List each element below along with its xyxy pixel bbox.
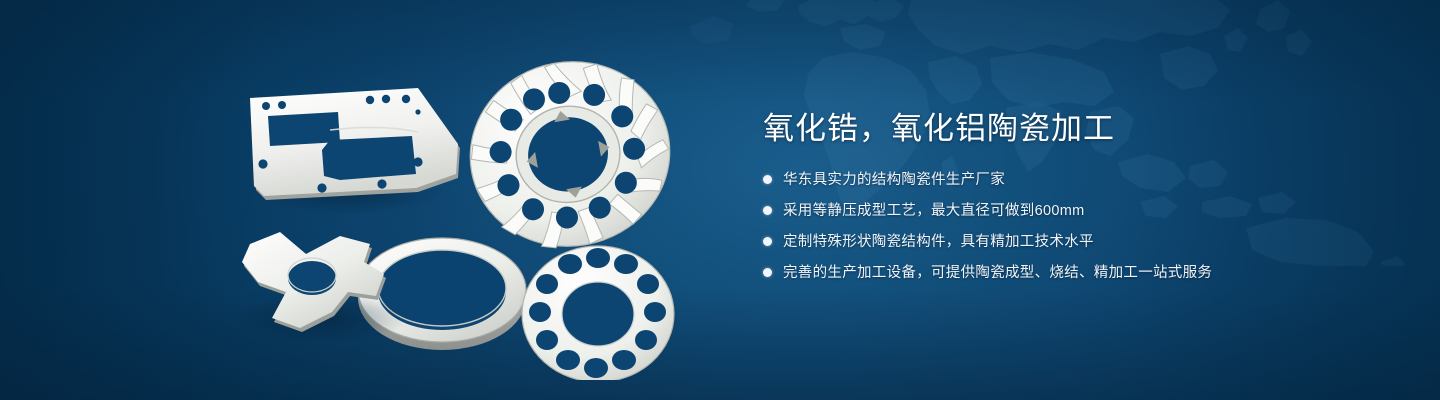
feature-text: 采用等静压成型工艺，最大直径可做到600mm [783, 201, 1084, 221]
bullet-dot-icon [763, 206, 772, 215]
bullet-dot-icon [763, 237, 772, 246]
list-item: 华东具实力的结构陶瓷件生产厂家 [763, 168, 1323, 191]
bullet-dot-icon [763, 268, 772, 277]
ceramic-machined-plate [250, 88, 460, 214]
feature-text: 定制特殊形状陶瓷结构件，具有精加工技术水平 [783, 232, 1094, 252]
product-photo-group [230, 40, 730, 380]
feature-list: 华东具实力的结构陶瓷件生产厂家 采用等静压成型工艺，最大直径可做到600mm 定… [763, 168, 1323, 284]
list-item: 采用等静压成型工艺，最大直径可做到600mm [763, 199, 1323, 222]
bullet-dot-icon [763, 175, 772, 184]
banner-headline: 氧化锆，氧化铝陶瓷加工 [763, 108, 1323, 150]
hero-banner: 氧化锆，氧化铝陶瓷加工 华东具实力的结构陶瓷件生产厂家 采用等静压成型工艺，最大… [0, 0, 1440, 400]
list-item: 定制特殊形状陶瓷结构件，具有精加工技术水平 [763, 230, 1323, 253]
ceramic-impeller [456, 46, 685, 262]
ceramic-perforated-disc [516, 242, 680, 380]
list-item: 完善的生产加工设备，可提供陶瓷成型、烧结、精加工一站式服务 [763, 261, 1323, 284]
banner-content: 氧化锆，氧化铝陶瓷加工 华东具实力的结构陶瓷件生产厂家 采用等静压成型工艺，最大… [763, 108, 1323, 284]
feature-text: 完善的生产加工设备，可提供陶瓷成型、烧结、精加工一站式服务 [783, 263, 1212, 283]
feature-text: 华东具实力的结构陶瓷件生产厂家 [783, 170, 1005, 190]
